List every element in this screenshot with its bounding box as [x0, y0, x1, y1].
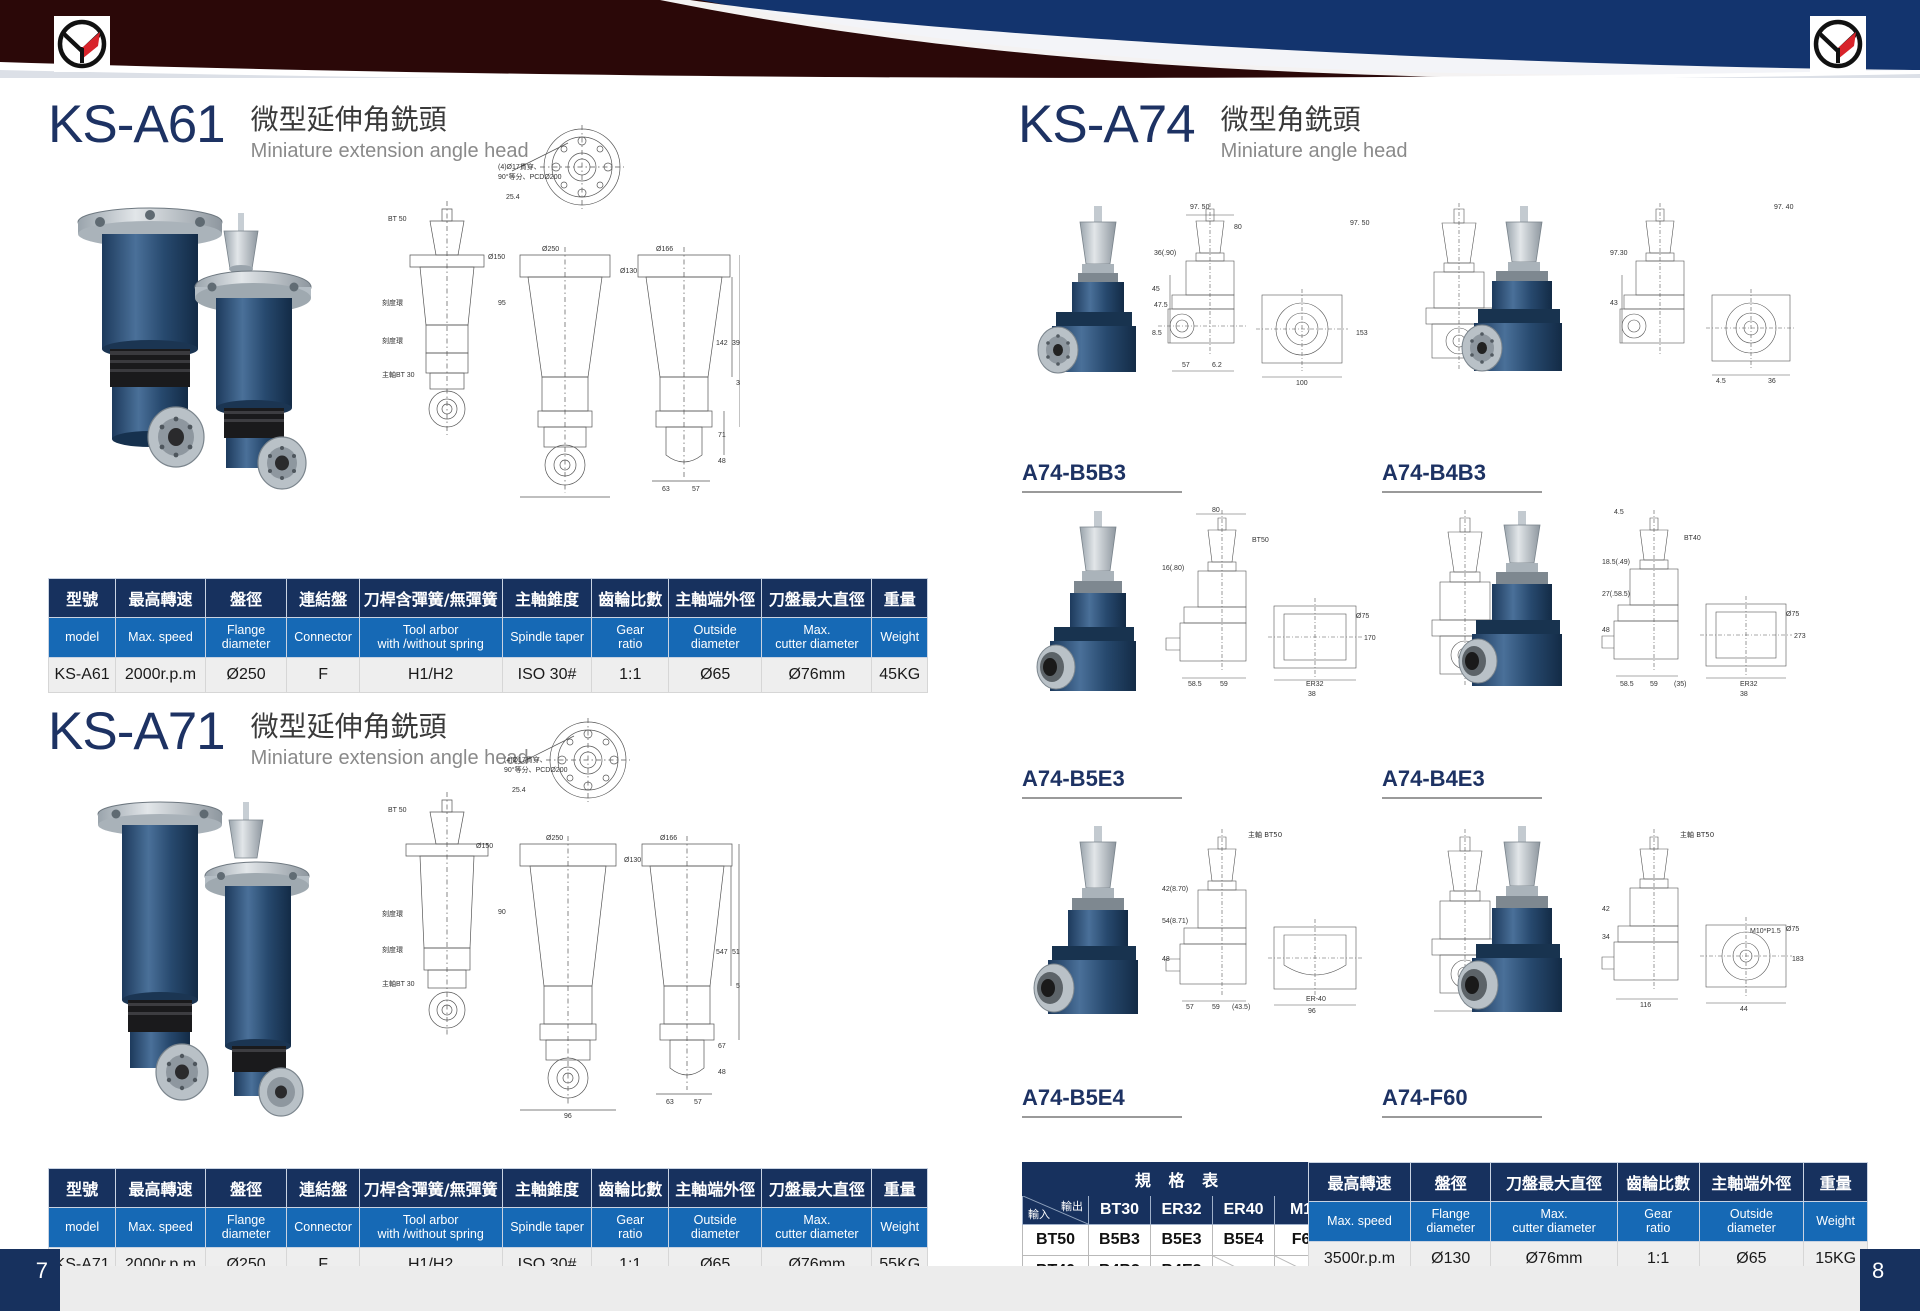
header-en-flange-dia: Flange diameter — [205, 1208, 287, 1248]
logo-icon — [57, 19, 107, 69]
matrix-corner-cell: 輸出 輸入 — [1023, 1196, 1089, 1225]
matrix-cell-b5b3: B5B3 — [1089, 1225, 1151, 1256]
header-cn-max-speed: 最高轉速 — [116, 1169, 206, 1208]
spec-table-ks-a61: 型號 最高轉速 盤徑 連結盤 刀桿含彈簧/無彈簧 主軸錐度 齒輪比數 主軸端外徑… — [48, 578, 928, 693]
cell-max-cutter: Ø76mm — [762, 657, 872, 692]
svg-text:59: 59 — [1650, 681, 1658, 688]
svg-text:Ø250: Ø250 — [542, 246, 559, 253]
header-cn-weight: 重量 — [872, 1169, 928, 1208]
svg-text:560: 560 — [736, 983, 740, 990]
cell-spindle-taper: ISO 30# — [502, 657, 592, 692]
technical-drawing-ks-a61: (4)Ø17貫穿、 90°等分、PCDØ200 25.4 BT 50 Ø150 … — [380, 125, 740, 500]
logo-icon — [1813, 19, 1863, 69]
svg-text:96: 96 — [1308, 1008, 1316, 1015]
svg-text:主軸BT 30: 主軸BT 30 — [382, 979, 415, 988]
svg-text:主軸 BT50: 主軸 BT50 — [1680, 830, 1714, 839]
svg-text:8.5: 8.5 — [1152, 330, 1162, 337]
header-cn-tool-arbor: 刀桿含彈簧/無彈簧 — [359, 579, 502, 618]
svg-text:Ø75: Ø75 — [1356, 613, 1369, 620]
header-en-outside-dia: Outside diameter — [669, 1208, 762, 1248]
spec-header-row-cn: 型號 最高轉速 盤徑 連結盤 刀桿含彈簧/無彈簧 主軸錐度 齒輪比數 主軸端外徑… — [49, 1169, 928, 1208]
matrix-cell-b5e3: B5E3 — [1151, 1225, 1213, 1256]
technical-drawing-a74-b4b3: 97. 40 97.3043 4.536 — [1608, 195, 1818, 420]
svg-text:183: 183 — [1792, 956, 1804, 963]
svg-text:63: 63 — [662, 486, 670, 493]
page-number-left: 7 — [0, 1249, 60, 1311]
header-cn-spindle-taper: 主軸錐度 — [502, 1169, 592, 1208]
svg-text:Ø130: Ø130 — [624, 857, 641, 864]
svg-text:Ø150: Ø150 — [476, 843, 493, 850]
svg-text:16(.80): 16(.80) — [1162, 565, 1184, 572]
svg-text:(43.5): (43.5) — [1232, 1004, 1250, 1011]
header-cn-model: 型號 — [49, 579, 116, 618]
svg-text:97.30: 97.30 — [1610, 250, 1628, 257]
svg-text:34: 34 — [1602, 934, 1610, 941]
header-en-connector: Connector — [287, 1208, 359, 1248]
spec-data-row: KS-A61 2000r.p.m Ø250 F H1/H2 ISO 30# 1:… — [49, 657, 928, 692]
model-caption-a74-b5b3: A74-B5B3 — [1022, 460, 1182, 498]
svg-text:57: 57 — [694, 1099, 702, 1106]
technical-drawing-a74-b5e3: 80 BT50 16(.80) 58.559 ER32 38 170 Ø75 — [1160, 500, 1380, 740]
header-en-tool-arbor: Tool arbor with /without spring — [359, 1208, 502, 1248]
cell-gear-ratio: 1:1 — [592, 657, 669, 692]
svg-text:36: 36 — [1768, 378, 1776, 385]
svg-text:80: 80 — [1234, 224, 1242, 231]
header-cn-outside-dia: 主軸端外徑 — [669, 1169, 762, 1208]
footer-bar — [0, 1266, 1920, 1311]
svg-text:M10*P1.5: M10*P1.5 — [1750, 928, 1781, 935]
product-name-cn: 微型角銑頭 — [1221, 102, 1408, 137]
svg-text:44: 44 — [1740, 1006, 1748, 1013]
matrix-title: 規 格 表 — [1023, 1163, 1337, 1196]
matrix-col-er32: ER32 — [1151, 1196, 1213, 1225]
svg-text:90°等分、PCDØ200: 90°等分、PCDØ200 — [498, 172, 562, 181]
header-en-model: model — [49, 618, 116, 658]
svg-text:67: 67 — [718, 1043, 726, 1050]
header-en-tool-arbor: Tool arbor with /without spring — [359, 618, 502, 658]
svg-text:47.5: 47.5 — [1154, 302, 1168, 309]
company-logo-left — [54, 16, 110, 72]
header-cn-gear-ratio: 齒輪比數 — [592, 579, 669, 618]
banner-swoosh — [0, 0, 1920, 78]
header-en-gear-ratio: Gear ratio — [592, 1208, 669, 1248]
svg-text:38: 38 — [1308, 691, 1316, 698]
spec-header-row-en: model Max. speed Flange diameter Connect… — [49, 1208, 928, 1248]
svg-text:90°等分、PCDØ200: 90°等分、PCDØ200 — [504, 765, 568, 774]
header-cn-max-speed: 最高轉速 — [116, 579, 206, 618]
model-caption-a74-b4b3: A74-B4B3 — [1382, 460, 1542, 498]
technical-drawing-a74-b5b3: 97. 5080 36(.90)45 47.58.5 576.2 100 153… — [1150, 195, 1380, 420]
svg-text:48: 48 — [1602, 627, 1610, 634]
svg-text:4.5: 4.5 — [1614, 509, 1624, 516]
svg-text:97. 50: 97. 50 — [1190, 204, 1210, 211]
header-cn-gear-ratio: 齒輪比數 — [1617, 1163, 1699, 1202]
header-cn-max-cutter: 刀盤最大直徑 — [762, 1169, 872, 1208]
svg-text:45: 45 — [1152, 286, 1160, 293]
header-cn-model: 型號 — [49, 1169, 116, 1208]
cell-tool-arbor: H1/H2 — [359, 657, 502, 692]
header-cn-max-speed: 最高轉速 — [1309, 1163, 1411, 1202]
svg-text:100: 100 — [1296, 380, 1308, 387]
spec-header-row-cn: 型號 最高轉速 盤徑 連結盤 刀桿含彈簧/無彈簧 主軸錐度 齒輪比數 主軸端外徑… — [49, 579, 928, 618]
svg-text:6.2: 6.2 — [1212, 362, 1222, 369]
header-cn-weight: 重量 — [1804, 1163, 1868, 1202]
svg-text:18.5(.49): 18.5(.49) — [1602, 559, 1630, 566]
technical-drawing-a74-b4e3: 4.5 BT40 18.5(.49) 27(.58.5) 48 58.559 (… — [1600, 500, 1810, 740]
svg-text:25.4: 25.4 — [512, 787, 526, 794]
svg-text:刻度環: 刻度環 — [382, 298, 403, 307]
svg-text:390: 390 — [732, 340, 740, 347]
svg-text:90: 90 — [498, 909, 506, 916]
svg-text:36(.90): 36(.90) — [1154, 250, 1176, 257]
header-en-weight: Weight — [1804, 1202, 1868, 1242]
matrix-corner-input-label: 輸入 — [1028, 1206, 1050, 1222]
svg-text:43: 43 — [1610, 300, 1618, 307]
product-code: KS-A61 — [48, 98, 225, 151]
svg-text:BT 50: BT 50 — [388, 216, 407, 223]
svg-text:97. 40: 97. 40 — [1774, 204, 1794, 211]
svg-text:BT 50: BT 50 — [388, 807, 407, 814]
header-cn-flange-dia: 盤徑 — [1410, 1163, 1491, 1202]
svg-text:刻度環: 刻度環 — [382, 945, 403, 954]
svg-text:57: 57 — [1186, 1004, 1194, 1011]
svg-text:57: 57 — [692, 486, 700, 493]
svg-text:71: 71 — [718, 432, 726, 439]
matrix-title-row: 規 格 表 — [1023, 1163, 1337, 1196]
header-cn-gear-ratio: 齒輪比數 — [592, 1169, 669, 1208]
header-en-model: model — [49, 1208, 116, 1248]
page-number-right: 8 — [1860, 1249, 1920, 1311]
product-name-en: Miniature angle head — [1221, 138, 1408, 164]
svg-text:95: 95 — [498, 300, 506, 307]
svg-text:25.4: 25.4 — [506, 194, 520, 201]
header-en-max-speed: Max. speed — [116, 1208, 206, 1248]
svg-text:42: 42 — [1602, 906, 1610, 913]
svg-text:48: 48 — [1162, 956, 1170, 963]
spec-header-row-en: Max. speed Flange diameter Max. cutter d… — [1309, 1202, 1868, 1242]
svg-text:96: 96 — [564, 1113, 572, 1118]
technical-drawing-ks-a71: (4)Ø17貫穿、 90°等分、PCDØ200 25.4 BT 50 Ø150 … — [380, 718, 740, 1118]
svg-text:Ø166: Ø166 — [656, 246, 673, 253]
header-cn-max-cutter: 刀盤最大直徑 — [762, 579, 872, 618]
svg-text:ER32: ER32 — [1740, 681, 1758, 688]
svg-text:刻度環: 刻度環 — [382, 909, 403, 918]
technical-drawing-a74-f60: 主軸 BT50 4234 116 44 M10*P1.5 Ø75 183 — [1600, 815, 1810, 1065]
cell-max-speed: 2000r.p.m — [116, 657, 206, 692]
svg-text:54(8.71): 54(8.71) — [1162, 918, 1188, 925]
header-cn-outside-dia: 主軸端外徑 — [669, 579, 762, 618]
svg-text:BT40: BT40 — [1684, 535, 1701, 542]
header-en-max-cutter: Max. cutter diameter — [1491, 1202, 1617, 1242]
header-en-gear-ratio: Gear ratio — [1617, 1202, 1699, 1242]
header-cn-weight: 重量 — [872, 579, 928, 618]
header-en-spindle-taper: Spindle taper — [502, 618, 592, 658]
spec-header-row-cn: 最高轉速 盤徑 刀盤最大直徑 齒輪比數 主軸端外徑 重量 — [1309, 1163, 1868, 1202]
svg-text:Ø150: Ø150 — [488, 254, 505, 261]
svg-text:刻度環: 刻度環 — [382, 336, 403, 345]
header-cn-flange-dia: 盤徑 — [205, 1169, 287, 1208]
catalog-page-spread: KS-A61 微型延伸角銑頭 Miniature extension angle… — [0, 0, 1920, 1311]
svg-text:Ø75: Ø75 — [1786, 926, 1799, 933]
svg-text:58.5: 58.5 — [1620, 681, 1634, 688]
header-en-max-speed: Max. speed — [1309, 1202, 1411, 1242]
header-cn-flange-dia: 盤徑 — [205, 579, 287, 618]
model-caption-a74-b4e3: A74-B4E3 — [1382, 766, 1542, 804]
svg-text:主軸BT 30: 主軸BT 30 — [382, 370, 415, 379]
svg-text:547: 547 — [716, 949, 728, 956]
header-en-max-cutter: Max. cutter diameter — [762, 1208, 872, 1248]
svg-text:59: 59 — [1220, 681, 1228, 688]
matrix-col-bt30: BT30 — [1089, 1196, 1151, 1225]
header-en-outside-dia: Outside diameter — [669, 618, 762, 658]
matrix-header-row: 輸出 輸入 BT30 ER32 ER40 M10 — [1023, 1196, 1337, 1225]
header-cn-connector: 連結盤 — [287, 579, 359, 618]
cell-outside-dia: Ø65 — [669, 657, 762, 692]
svg-text:97. 50: 97. 50 — [1350, 220, 1370, 227]
svg-text:4.5: 4.5 — [1716, 378, 1726, 385]
header-cn-tool-arbor: 刀桿含彈簧/無彈簧 — [359, 1169, 502, 1208]
technical-drawing-a74-b5e4: 主軸 BT50 42(8.70) 54(8.71) 48 5759(43.5) … — [1160, 815, 1380, 1065]
svg-text:ER32: ER32 — [1306, 681, 1324, 688]
svg-text:515: 515 — [732, 949, 740, 956]
product-names: 微型角銑頭 Miniature angle head — [1221, 98, 1408, 164]
header-en-weight: Weight — [872, 618, 928, 658]
header-cn-max-cutter: 刀盤最大直徑 — [1491, 1163, 1617, 1202]
product-photo-a74-f60 — [1440, 820, 1610, 1070]
cell-connector: F — [287, 657, 359, 692]
cell-flange-dia: Ø250 — [205, 657, 287, 692]
svg-text:Ø166: Ø166 — [660, 835, 677, 842]
svg-text:42(8.70): 42(8.70) — [1162, 886, 1188, 893]
header-cn-connector: 連結盤 — [287, 1169, 359, 1208]
spec-header-row-en: model Max. speed Flange diameter Connect… — [49, 618, 928, 658]
svg-text:Ø75: Ø75 — [1786, 611, 1799, 618]
svg-text:(4)Ø17貫穿、: (4)Ø17貫穿、 — [504, 755, 547, 764]
product-photo-ks-a71-angled — [185, 790, 385, 1120]
svg-text:59: 59 — [1212, 1004, 1220, 1011]
svg-text:主軸 BT50: 主軸 BT50 — [1248, 830, 1282, 839]
svg-text:ER-40: ER-40 — [1306, 996, 1326, 1003]
svg-text:116: 116 — [1640, 1002, 1651, 1009]
svg-text:142: 142 — [716, 340, 728, 347]
model-caption-a74-f60: A74-F60 — [1382, 1085, 1542, 1123]
header-en-flange-dia: Flange diameter — [1410, 1202, 1491, 1242]
matrix-cell-b5e4: B5E4 — [1213, 1225, 1275, 1256]
svg-text:Ø250: Ø250 — [546, 835, 563, 842]
header-cn-spindle-taper: 主軸錐度 — [502, 579, 592, 618]
svg-text:27(.58.5): 27(.58.5) — [1602, 591, 1630, 598]
header-en-max-cutter: Max. cutter diameter — [762, 618, 872, 658]
svg-text:398: 398 — [736, 380, 740, 387]
header-cn-outside-dia: 主軸端外徑 — [1699, 1163, 1804, 1202]
svg-text:Ø130: Ø130 — [620, 268, 637, 275]
matrix-rowhead-bt50: BT50 — [1023, 1225, 1089, 1256]
header-en-weight: Weight — [872, 1208, 928, 1248]
matrix-col-er40: ER40 — [1213, 1196, 1275, 1225]
svg-text:BT50: BT50 — [1252, 537, 1269, 544]
header-en-connector: Connector — [287, 618, 359, 658]
model-caption-a74-b5e4: A74-B5E4 — [1022, 1085, 1182, 1123]
matrix-row-bt50: BT50 B5B3 B5E3 B5E4 F60 — [1023, 1225, 1337, 1256]
svg-text:153: 153 — [1356, 330, 1368, 337]
matrix-corner-output-label: 輸出 — [1061, 1198, 1083, 1214]
header-en-flange-dia: Flange diameter — [205, 618, 287, 658]
spec-table-ks-a74: 最高轉速 盤徑 刀盤最大直徑 齒輪比數 主軸端外徑 重量 Max. speed … — [1308, 1162, 1868, 1277]
product-code: KS-A71 — [48, 705, 225, 758]
svg-text:273: 273 — [1794, 633, 1806, 640]
model-caption-a74-b5e3: A74-B5E3 — [1022, 766, 1182, 804]
product-code: KS-A74 — [1018, 98, 1195, 151]
svg-text:58.5: 58.5 — [1188, 681, 1202, 688]
svg-text:170: 170 — [1364, 635, 1376, 642]
header-en-spindle-taper: Spindle taper — [502, 1208, 592, 1248]
product-photo-a74-b4e3 — [1440, 505, 1610, 745]
svg-text:38: 38 — [1740, 691, 1748, 698]
product-photo-ks-a61-angled — [178, 195, 388, 495]
svg-text:63: 63 — [666, 1099, 674, 1106]
svg-text:(35): (35) — [1674, 681, 1686, 688]
svg-text:57: 57 — [1182, 362, 1190, 369]
header-en-max-speed: Max. speed — [116, 618, 206, 658]
svg-text:48: 48 — [718, 1069, 726, 1076]
company-logo-right — [1810, 16, 1866, 72]
cell-weight: 45KG — [872, 657, 928, 692]
product-title-ks-a74: KS-A74 微型角銑頭 Miniature angle head — [1018, 98, 1407, 164]
svg-text:80: 80 — [1212, 507, 1220, 514]
svg-text:48: 48 — [718, 458, 726, 465]
product-photo-a74-b4b3 — [1440, 200, 1600, 420]
svg-text:(4)Ø17貫穿、: (4)Ø17貫穿、 — [498, 162, 541, 171]
header-en-outside-dia: Outside diameter — [1699, 1202, 1804, 1242]
header-en-gear-ratio: Gear ratio — [592, 618, 669, 658]
cell-model: KS-A61 — [49, 657, 116, 692]
top-banner — [0, 0, 1920, 78]
